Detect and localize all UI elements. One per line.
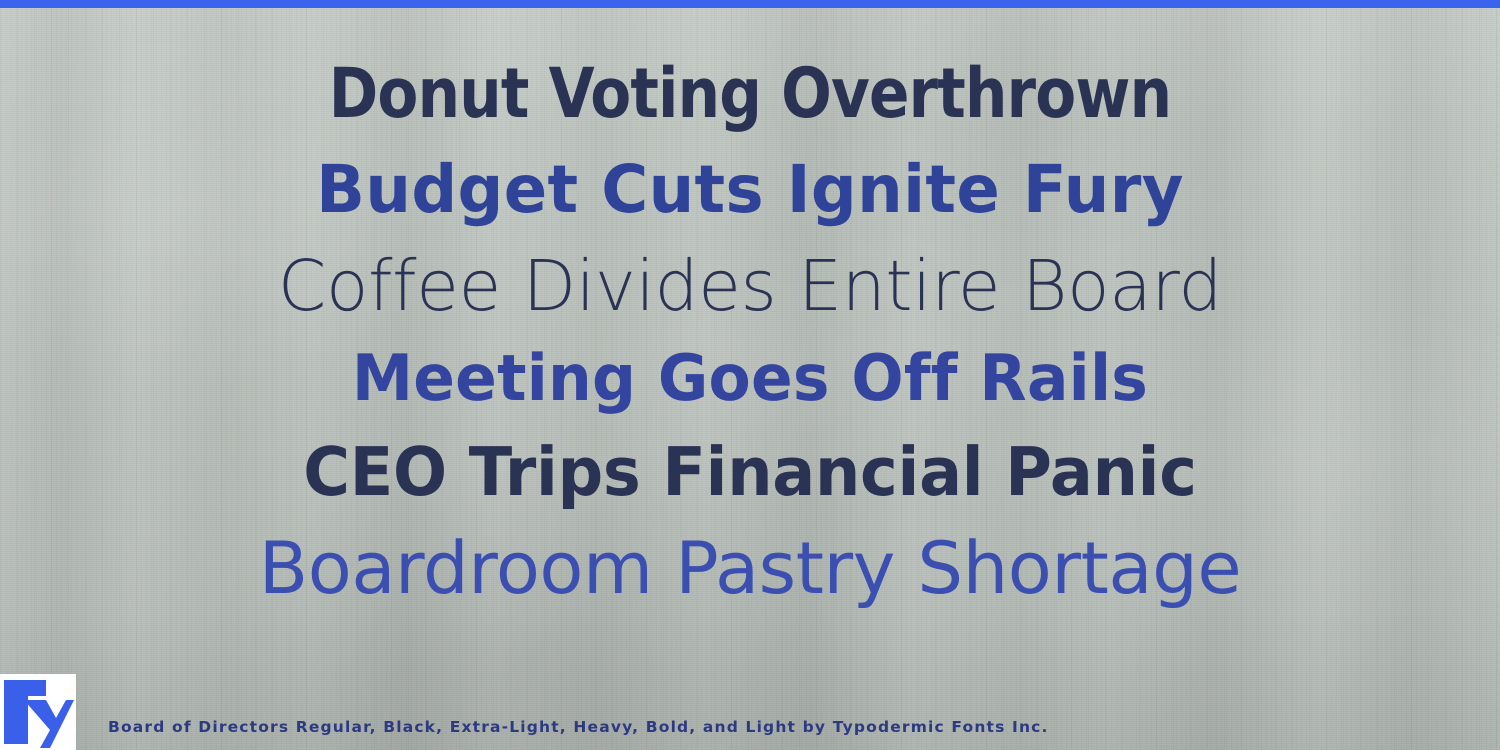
specimen-line-bold: CEO Trips Financial Panic	[38, 439, 1463, 506]
specimen-line-black: Budget Cuts Ignite Fury	[23, 157, 1478, 223]
specimen-lines-stack: Donut Voting Overthrown Budget Cuts Igni…	[0, 8, 1500, 668]
top-accent-bar	[0, 0, 1500, 8]
typodermic-ty-logo-icon	[0, 674, 76, 750]
font-specimen-poster: Donut Voting Overthrown Budget Cuts Igni…	[0, 0, 1500, 750]
specimen-line-extra-light: Coffee Divides Entire Board	[8, 251, 1493, 321]
typodermic-logo-tile[interactable]	[0, 674, 76, 750]
specimen-line-regular: Donut Voting Overthrown	[30, 60, 1470, 129]
specimen-line-light: Boardroom Pastry Shortage	[0, 532, 1500, 604]
specimen-line-heavy: Meeting Goes Off Rails	[30, 347, 1470, 411]
poster-footer: Board of Directors Regular, Black, Extra…	[0, 668, 1500, 750]
specimen-caption: Board of Directors Regular, Black, Extra…	[108, 718, 1049, 736]
